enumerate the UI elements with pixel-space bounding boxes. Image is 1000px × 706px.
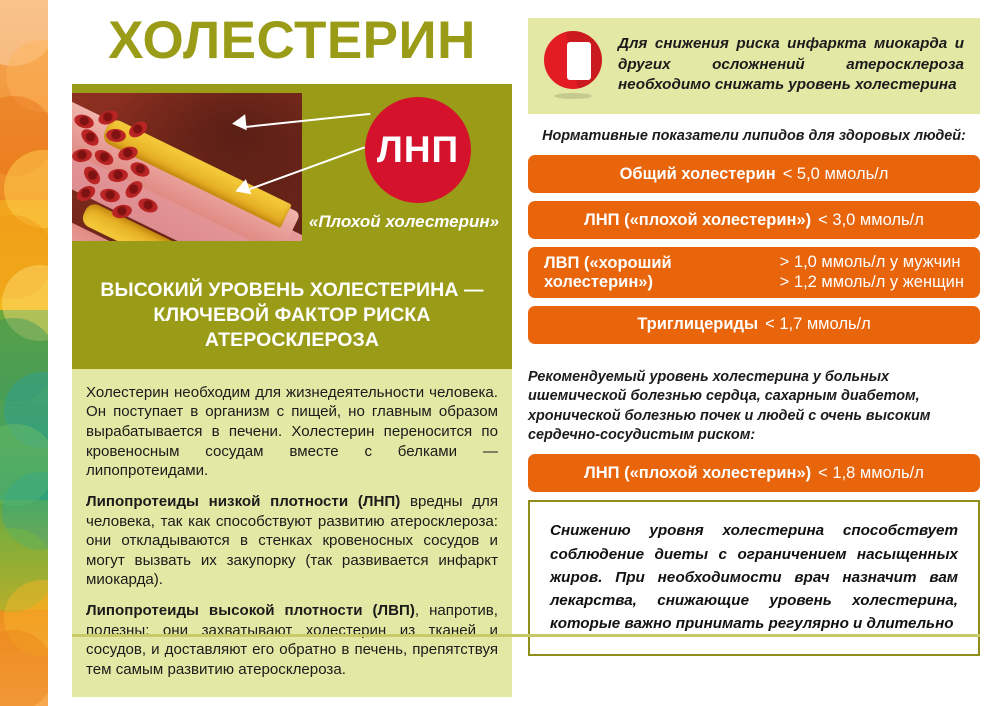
healthy-section-lead: Нормативные показатели липидов для здоро… bbox=[528, 114, 980, 155]
artery-image bbox=[72, 93, 302, 241]
alert-callout: Для снижения риска инфаркта миокарда и д… bbox=[528, 18, 980, 114]
bar-hdl-values: > 1,0 ммоль/л у мужчин > 1,2 ммоль/л у ж… bbox=[780, 253, 964, 291]
bar-ldl-high-risk-label: ЛНП («плохой холестерин») bbox=[584, 464, 811, 483]
bar-hdl-value-women: > 1,2 ммоль/л у женщин bbox=[780, 273, 964, 292]
bar-ldl-label: ЛНП («плохой холестерин») bbox=[584, 211, 811, 230]
lnp-badge-label: ЛНП bbox=[377, 129, 459, 171]
red-blood-cells bbox=[72, 111, 158, 221]
pointer-arrowhead-upper bbox=[231, 114, 247, 131]
banner-line-1: ВЫСОКИЙ УРОВЕНЬ ХОЛЕСТЕРИНА — bbox=[82, 278, 502, 303]
bar-ldl-value: < 3,0 ммоль/л bbox=[818, 211, 924, 230]
risk-section-lead: Рекомендуемый уровень холестерина у боль… bbox=[528, 352, 980, 455]
banner-line-2: КЛЮЧЕВОЙ ФАКТОР РИСКА АТЕРОСКЛЕРОЗА bbox=[82, 303, 502, 353]
advice-note-text: Снижению уровня холестерина способствует… bbox=[550, 519, 958, 634]
hero-illustration: ЛНП «Плохой холестерин» bbox=[72, 84, 512, 264]
footer-divider bbox=[72, 634, 980, 637]
bar-ldl-high-risk: ЛНП («плохой холестерин») < 1,8 ммоль/л bbox=[528, 454, 980, 492]
body-text-panel: Холестерин необходим для жизнедеятельнос… bbox=[72, 369, 512, 698]
bar-ldl-high-risk-value: < 1,8 ммоль/л bbox=[818, 464, 924, 483]
paragraph-1: Холестерин необходим для жизнедеятельнос… bbox=[86, 383, 498, 481]
bar-total-cholesterol-label: Общий холестерин bbox=[620, 165, 776, 184]
paragraph-2: Липопротеиды низкой плотности (ЛНП) вред… bbox=[86, 492, 498, 590]
bar-triglycerides-value: < 1,7 ммоль/л bbox=[765, 315, 871, 334]
right-column: Для снижения риска инфаркта миокарда и д… bbox=[528, 18, 980, 656]
bad-cholesterol-caption: «Плохой холестерин» bbox=[304, 212, 504, 232]
left-column: ЛНП «Плохой холестерин» ВЫСОКИЙ УРОВЕНЬ … bbox=[72, 84, 512, 697]
bar-hdl-label: ЛВП («хороший холестерин») bbox=[544, 254, 780, 292]
key-risk-banner: ВЫСОКИЙ УРОВЕНЬ ХОЛЕСТЕРИНА — КЛЮЧЕВОЙ Ф… bbox=[72, 264, 512, 369]
exclamation-circle-icon bbox=[542, 31, 604, 99]
advice-note-box: Снижению уровня холестерина способствует… bbox=[528, 500, 980, 655]
infographic-page: ХОЛЕСТЕРИН bbox=[0, 0, 1000, 706]
bar-total-cholesterol: Общий холестерин < 5,0 ммоль/л bbox=[528, 155, 980, 193]
bar-hdl-value-men: > 1,0 ммоль/л у мужчин bbox=[780, 253, 964, 272]
paragraph-3-lead: Липопротеиды высокой плотности (ЛВП) bbox=[86, 602, 415, 619]
bar-total-cholesterol-value: < 5,0 ммоль/л bbox=[783, 165, 889, 184]
bar-triglycerides-label: Триглицериды bbox=[637, 315, 758, 334]
decorative-side-strip bbox=[0, 0, 48, 706]
alert-text: Для снижения риска инфаркта миокарда и д… bbox=[618, 34, 964, 97]
bar-ldl: ЛНП («плохой холестерин») < 3,0 ммоль/л bbox=[528, 201, 980, 239]
bar-triglycerides: Триглицериды < 1,7 ммоль/л bbox=[528, 306, 980, 344]
page-title: ХОЛЕСТЕРИН bbox=[72, 14, 512, 67]
lnp-badge: ЛНП bbox=[365, 97, 471, 203]
bar-hdl: ЛВП («хороший холестерин») > 1,0 ммоль/л… bbox=[528, 247, 980, 297]
paragraph-2-lead: Липопротеиды низкой плотности (ЛНП) bbox=[86, 493, 400, 510]
paragraph-3: Липопротеиды высокой плотности (ЛВП), на… bbox=[86, 601, 498, 679]
